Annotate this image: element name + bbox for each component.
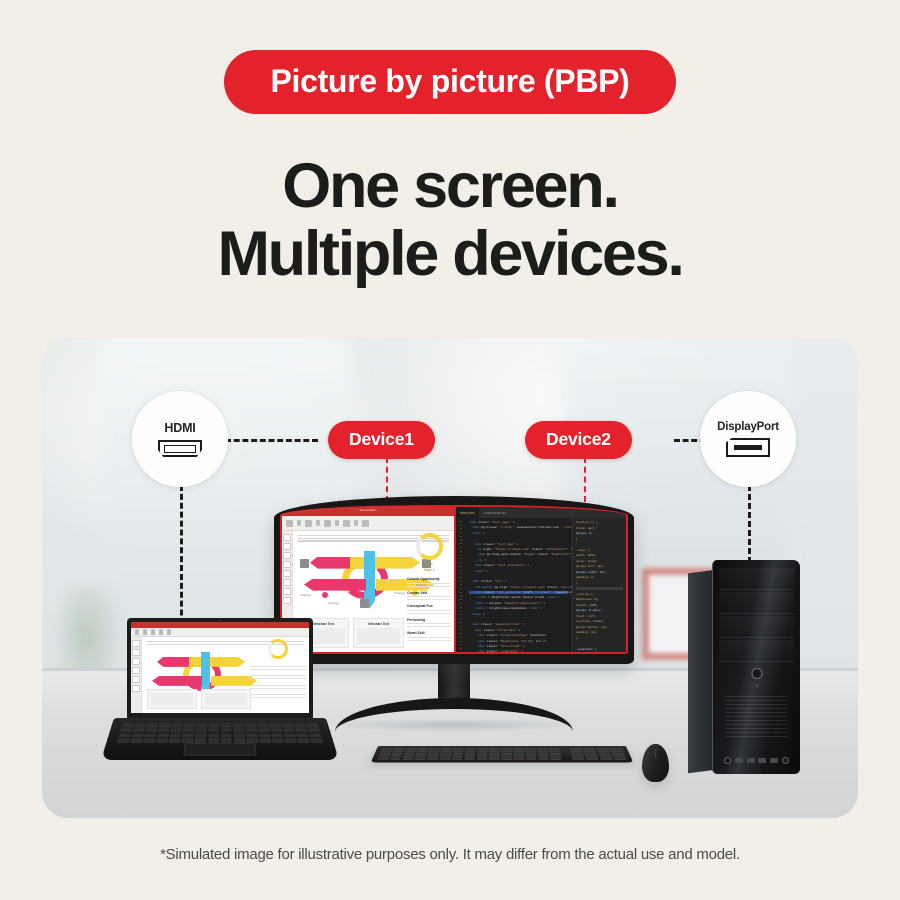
editor-tab-bar[interactable]: index.html components.jsx: [456, 507, 626, 518]
side-panel-line[interactable]: padding: 0;: [576, 576, 623, 579]
code-line[interactable]: </div> Rightcolor-words footer.brand</di…: [469, 596, 568, 599]
code-line-selected[interactable]: <div class="col_contents" href="c-brand"…: [469, 591, 568, 594]
toolbar-icon[interactable]: [324, 520, 331, 527]
monitor-screen: Presentation: [280, 505, 628, 654]
slide-thumbnail[interactable]: [283, 570, 291, 577]
toolbar-icon[interactable]: [159, 629, 163, 635]
side-panel-line[interactable]: margin-bottom: 2px;: [576, 626, 623, 629]
laptop: [114, 618, 326, 763]
code-line[interactable]: <a brgb="https://reboot.com" class="defa…: [469, 548, 568, 551]
side-metric-row: Smart Skill: [407, 631, 451, 641]
toolbar-icon[interactable]: [151, 629, 155, 635]
keyboard-main-keys[interactable]: [377, 748, 562, 760]
laptop-keyboard[interactable]: [117, 723, 323, 743]
code-line[interactable]: </a>: [469, 559, 568, 562]
slide-card-title: Infochart Text: [357, 622, 400, 626]
donut-value: 75 %: [407, 562, 451, 566]
infographic-label: Strategy: [394, 591, 405, 595]
side-panel-line[interactable]: }: [576, 538, 623, 541]
code-line[interactable]: </div> brightclass/condition</div>: [469, 607, 568, 610]
side-panel-line[interactable]: margin: 0;: [576, 532, 623, 535]
side-metric-row: Current Opportunity: [407, 577, 451, 587]
side-metric-label: Current Opportunity: [407, 577, 451, 581]
side-panel-line[interactable]: .layer {: [576, 549, 623, 552]
hdmi-label: HDMI: [164, 421, 195, 435]
toolbar-icon[interactable]: [286, 520, 293, 527]
displayport-label: DisplayPort: [717, 421, 779, 433]
slide-thumbnail[interactable]: [132, 658, 140, 665]
ultrawide-monitor: Presentation: [274, 496, 634, 664]
side-metric-label: Choose Skill: [407, 591, 451, 595]
code-line[interactable]: <div class="separator">: [469, 650, 568, 652]
side-metric-row: [250, 693, 306, 699]
laptop-base: [101, 718, 339, 760]
side-panel-line[interactable]: float: left;: [576, 615, 623, 618]
side-panel-line[interactable]: .overlay {: [576, 593, 623, 596]
tower-front-panel: [712, 560, 800, 774]
headline-line-1: One screen.: [0, 152, 900, 220]
arrow-yellow-right: [189, 657, 245, 667]
toolbar-icon[interactable]: [335, 520, 339, 526]
side-panel-line[interactable]: [576, 587, 623, 590]
laptop-metric-list: [250, 664, 306, 698]
toolbar-icon[interactable]: [305, 520, 312, 527]
slide-thumbnail[interactable]: [283, 561, 291, 568]
tower-drive-bay: [719, 640, 794, 662]
tower-side-panel: [688, 570, 714, 773]
side-panel-line[interactable]: }: [576, 637, 623, 640]
slide-thumbnail[interactable]: [132, 676, 140, 683]
editor-side-panel[interactable]: function () { brand: dark; margin: 0;} .…: [572, 518, 626, 652]
toolbar-icon[interactable]: [135, 629, 139, 635]
side-panel-line[interactable]: padding: 4px;: [576, 631, 623, 634]
slide-thumbnail[interactable]: [283, 597, 291, 604]
code-line[interactable]: </div>: [469, 613, 568, 616]
keyboard-numpad[interactable]: [570, 748, 627, 760]
tower-vent-grille: [725, 696, 788, 740]
desktop-mouse[interactable]: [642, 744, 669, 782]
side-metric-row: Conceptual Fun: [407, 604, 451, 614]
disclaimer-text: *Simulated image for illustrative purpos…: [0, 846, 900, 863]
desktop-keyboard[interactable]: [371, 746, 634, 762]
code-line[interactable]: <img bg-feed_pane-brand="image" class="R…: [469, 553, 568, 556]
toolbar-icon[interactable]: [167, 629, 171, 635]
side-metric-label: Conceptual Fun: [407, 604, 451, 608]
tower-status-led: [755, 684, 758, 687]
side-metric-row: [250, 674, 306, 680]
side-metric-row: Performing: [407, 618, 451, 628]
side-panel-line[interactable]: Rightcolor.bg: [576, 598, 623, 601]
connector-hdmi-to-device1: [225, 439, 318, 442]
code-line[interactable]: <div class="text_img">: [469, 543, 568, 546]
code-line[interactable]: <li-footer bg-brgb"https://reboot.com" a…: [469, 586, 568, 589]
product-photo-panel: HDMI DisplayPort Device1 Device2 LG: [42, 338, 858, 818]
toolbar-icon[interactable]: [343, 520, 350, 527]
device1-pill[interactable]: Device1: [328, 421, 435, 459]
code-line[interactable]: <div class="Corporate/Page" function>: [469, 634, 568, 637]
arrow-red-left: [304, 579, 366, 591]
device2-pill[interactable]: Device2: [525, 421, 632, 459]
infographic-label: Strategy: [300, 593, 311, 597]
code-line[interactable]: [469, 575, 568, 578]
code-line[interactable]: </div> margin="header/rebootcolour">: [469, 602, 568, 605]
side-panel-line[interactable]: overflow: hidden;: [576, 620, 623, 623]
laptop-lid: [127, 618, 313, 720]
side-panel-line[interactable]: [576, 642, 623, 645]
infographic-icon: [360, 599, 369, 608]
code-line[interactable]: </div>: [469, 532, 568, 535]
laptop-slide-canvas[interactable]: [142, 637, 309, 713]
slide-card-body: [205, 693, 247, 705]
toolbar-icon[interactable]: [143, 629, 147, 635]
code-line[interactable]: <div bg-brand="c-brgb"-mediacolour/lib/a…: [469, 526, 568, 529]
slide-card: Infochart Text: [353, 618, 404, 648]
side-panel-line[interactable]: margin-left: 8px;: [576, 565, 623, 568]
side-panel-line[interactable]: }: [576, 582, 623, 585]
tower-front-ports[interactable]: [724, 756, 789, 765]
infographic-label: Strategy: [328, 601, 339, 605]
tower-drive-bay: [719, 568, 794, 590]
code-line[interactable]: [469, 537, 568, 540]
tower-drive-bay: [719, 616, 794, 638]
laptop-slide-rail[interactable]: [131, 637, 142, 713]
laptop-document-toolbar[interactable]: [131, 628, 309, 637]
slide-thumbnail[interactable]: [283, 543, 291, 550]
code-line[interactable]: <div class="text_page">: [469, 521, 568, 524]
slide-thumbnail[interactable]: [132, 640, 140, 647]
side-panel-line[interactable]: color: brand;: [576, 560, 623, 563]
code-line[interactable]: <div class="file-brand">: [469, 645, 568, 648]
code-line[interactable]: <div class="separator/box">: [469, 623, 568, 626]
donut-chart: [268, 639, 288, 659]
side-panel-line[interactable]: [576, 543, 623, 546]
code-line[interactable]: [469, 618, 568, 621]
donut-chart: [416, 533, 443, 560]
editor-gutter: [456, 518, 465, 652]
laptop-screen[interactable]: [131, 622, 309, 713]
slide-thumbnail[interactable]: [132, 667, 140, 674]
side-metric-row: [250, 683, 306, 689]
pbp-pane-right[interactable]: index.html components.jsx <div class="te…: [454, 507, 626, 652]
badge-container: Picture by picture (PBP): [0, 0, 900, 114]
donut-chart-group: 75 % Stage 4 Current Opportunity Choose …: [407, 533, 451, 641]
slide-card: [201, 689, 251, 709]
hdmi-badge[interactable]: HDMI: [132, 391, 228, 487]
side-panel-line[interactable]: function () {: [576, 521, 623, 524]
displayport-badge[interactable]: DisplayPort: [700, 391, 796, 487]
pc-tower: [688, 560, 800, 778]
document-title: Presentation: [360, 508, 377, 512]
editor-code-area[interactable]: <div class="text_page"><div bg-brand="c-…: [465, 518, 572, 652]
slide-thumbnail[interactable]: [283, 552, 291, 559]
document-toolbar[interactable]: [282, 516, 454, 531]
slide-thumbnail[interactable]: [283, 588, 291, 595]
editor-tab-active[interactable]: index.html: [456, 507, 479, 518]
side-panel-line[interactable]: margin-right: 4px;: [576, 571, 623, 574]
code-line[interactable]: <div hrefs="col">: [469, 580, 568, 583]
side-panel-line[interactable]: .separator {: [576, 648, 623, 651]
code-line[interactable]: <div class="Rightcolor tab bg" rel />: [469, 640, 568, 643]
slide-card: [147, 689, 197, 709]
donut-label: Stage 4: [407, 568, 451, 572]
toolbar-icon[interactable]: [362, 520, 369, 527]
code-line[interactable]: <div class="text_separator">: [469, 564, 568, 567]
slide-thumbnail[interactable]: [132, 685, 140, 692]
hdmi-port-icon: [158, 440, 202, 457]
side-metric-label: Smart Skill: [407, 631, 451, 635]
tower-drive-bay: [719, 592, 794, 614]
side-panel-line[interactable]: brand: dark;: [576, 527, 623, 530]
toolbar-icon[interactable]: [316, 520, 320, 526]
laptop-webcam: [219, 620, 222, 622]
monitor-shadow: [324, 720, 584, 732]
code-line[interactable]: </div>: [469, 570, 568, 573]
laptop-donut-group: [250, 639, 306, 698]
toolbar-icon[interactable]: [354, 520, 358, 526]
side-metric-label: Performing: [407, 618, 451, 622]
displayport-port-icon: [726, 438, 770, 457]
arrow-red-left: [152, 676, 202, 686]
editor-tab[interactable]: components.jsx: [480, 507, 510, 518]
side-metric-row: Choose Skill: [407, 591, 451, 601]
headline-line-2: Multiple devices.: [0, 220, 900, 288]
laptop-card-row: [147, 689, 251, 709]
laptop-document-ribbon: [131, 622, 309, 628]
infographic-icon: [300, 559, 309, 568]
laptop-document-body: [131, 637, 309, 713]
side-panel-line[interactable]: width: 100%;: [576, 554, 623, 557]
laptop-trackpad[interactable]: [183, 743, 256, 756]
infographic-dot: [322, 592, 328, 598]
code-line[interactable]: <div class="corporate">: [469, 629, 568, 632]
side-panel-line[interactable]: height: 100%;: [576, 604, 623, 607]
slide-card-body: [357, 628, 400, 644]
tower-power-button[interactable]: [751, 668, 762, 679]
slide-thumbnail[interactable]: [283, 534, 291, 541]
slide-card-body: [151, 693, 193, 705]
side-panel-line[interactable]: margin: 0 auto;: [576, 609, 623, 612]
toolbar-icon[interactable]: [297, 520, 301, 526]
document-ribbon: Presentation: [282, 507, 454, 516]
slide-thumbnail[interactable]: [132, 649, 140, 656]
side-metric-row: [250, 664, 306, 670]
page-title: One screen. Multiple devices.: [0, 152, 900, 288]
connector-displayport-to-tower: [748, 485, 751, 563]
editor-main: <div class="text_page"><div bg-brand="c-…: [456, 518, 626, 652]
pbp-feature-badge: Picture by picture (PBP): [224, 50, 675, 114]
side-metric-list: Current Opportunity Choose Skill Concept…: [407, 577, 451, 641]
slide-thumbnail[interactable]: [283, 579, 291, 586]
